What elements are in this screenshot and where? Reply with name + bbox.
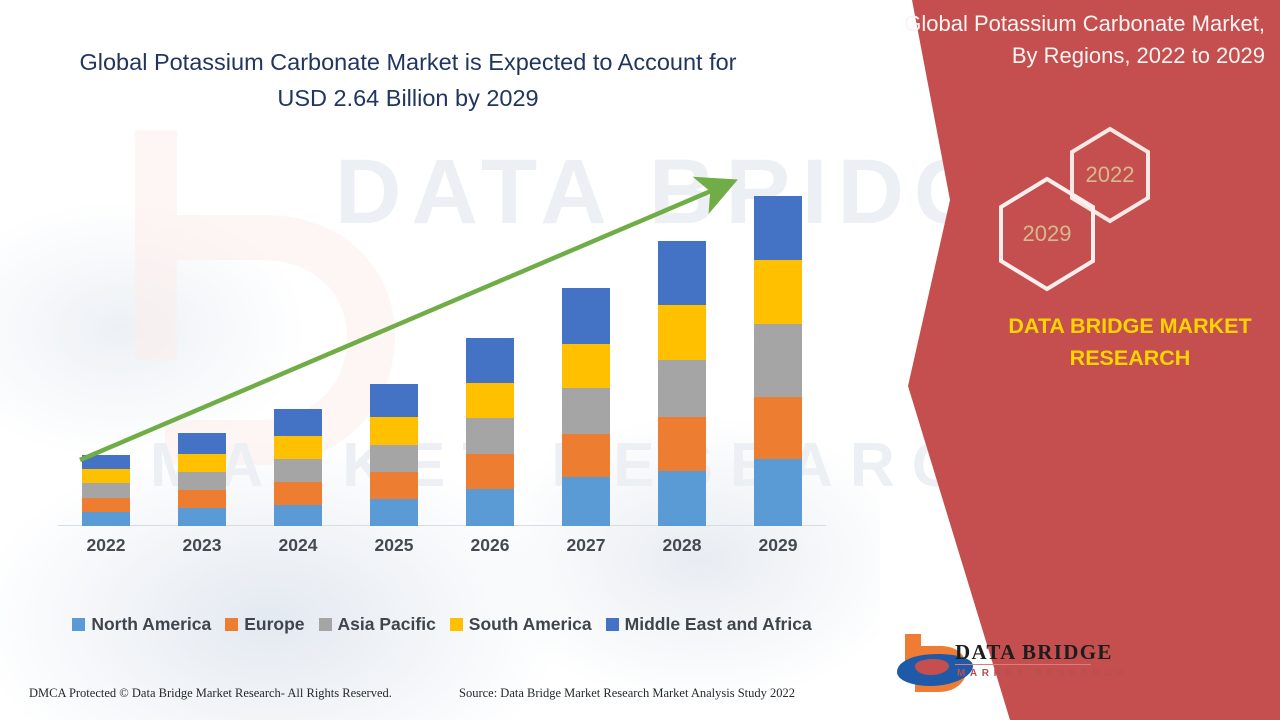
x-axis-label-2026: 2026 <box>442 535 538 556</box>
logo-divider <box>955 664 1091 665</box>
x-axis-label-2029: 2029 <box>730 535 826 556</box>
logo-tagline: MARKET RESEARCH <box>957 668 1128 679</box>
legend-label: Europe <box>244 614 304 635</box>
footer-source: Source: Data Bridge Market Research Mark… <box>459 686 795 701</box>
legend-swatch-icon <box>225 618 238 631</box>
hexagon-2029: 2029 <box>993 175 1101 293</box>
panel-brand-text: DATA BRIDGE MARKET RESEARCH <box>965 310 1280 375</box>
chart-legend: North AmericaEuropeAsia PacificSouth Ame… <box>58 614 826 635</box>
footer-copyright: DMCA Protected © Data Bridge Market Rese… <box>29 686 392 701</box>
hexagon-2029-label: 2029 <box>993 221 1101 247</box>
panel-heading: Global Potassium Carbonate Market, By Re… <box>895 8 1265 72</box>
legend-swatch-icon <box>450 618 463 631</box>
legend-swatch-icon <box>72 618 85 631</box>
legend-item[interactable]: North America <box>72 614 211 635</box>
legend-item[interactable]: Middle East and Africa <box>606 614 812 635</box>
x-axis-label-2024: 2024 <box>250 535 346 556</box>
legend-item[interactable]: Europe <box>225 614 304 635</box>
x-axis-label-2028: 2028 <box>634 535 730 556</box>
legend-item[interactable]: Asia Pacific <box>319 614 436 635</box>
logo-name: DATA BRIDGE <box>955 640 1113 665</box>
chart-x-labels: 20222023202420252026202720282029 <box>58 530 826 560</box>
growth-arrow-icon <box>58 170 826 526</box>
legend-label: Middle East and Africa <box>625 614 812 635</box>
legend-label: North America <box>91 614 211 635</box>
page-title: Global Potassium Carbonate Market is Exp… <box>58 44 758 117</box>
x-axis-label-2027: 2027 <box>538 535 634 556</box>
legend-swatch-icon <box>319 618 332 631</box>
hexagon-group: 2022 2029 <box>985 125 1195 295</box>
x-axis-label-2022: 2022 <box>58 535 154 556</box>
x-axis-label-2025: 2025 <box>346 535 442 556</box>
stacked-bar-chart: 20222023202420252026202720282029 <box>58 170 826 560</box>
x-axis-label-2023: 2023 <box>154 535 250 556</box>
legend-swatch-icon <box>606 618 619 631</box>
legend-label: South America <box>469 614 592 635</box>
legend-item[interactable]: South America <box>450 614 592 635</box>
legend-label: Asia Pacific <box>338 614 436 635</box>
